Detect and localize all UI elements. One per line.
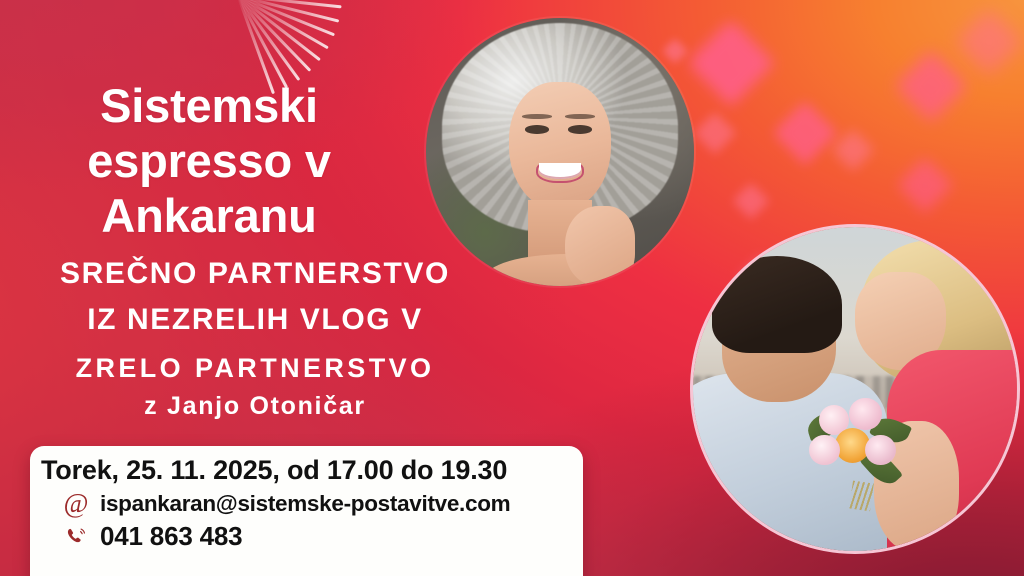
heart-icon [738,188,764,214]
heart-icon [838,135,868,165]
title-line-1: Sistemski [0,78,418,133]
phone-icon [52,526,100,548]
email-address[interactable]: ispankaran@sistemske-postavitve.com [100,491,510,517]
title-line-2-thin: v [305,134,331,187]
phone-number[interactable]: 041 863 483 [100,521,242,552]
couple-with-bouquet-photo [690,224,1020,554]
event-date-time: Torek, 25. 11. 2025, od 17.00 do 19.30 [30,455,583,486]
title-line-3: Ankaranu [0,188,418,243]
email-row[interactable]: @ ispankaran@sistemske-postavitve.com [30,490,583,517]
heart-icon [965,18,1013,66]
phone-row[interactable]: 041 863 483 [30,521,583,552]
subtitle-line-2: IZ NEZRELIH VLOG V [0,302,510,337]
woman-portrait-photo [426,18,694,286]
heart-icon [700,118,730,148]
heart-icon [700,32,762,94]
subtitle-line-3: ZRELO PARTNERSTVO [0,352,510,384]
title-line-2: espresso v [0,133,418,188]
heart-icon [905,60,957,112]
presenter-name: z Janjo Otoničar [0,392,510,421]
poster-title: Sistemski espresso v Ankaranu [0,78,418,243]
event-poster: Sistemski espresso v Ankaranu SREČNO PAR… [0,0,1024,576]
subtitle-line-1: SREČNO PARTNERSTVO [0,256,510,291]
title-line-2-strong: espresso [87,134,292,187]
heart-icon [782,110,828,156]
event-info-card: Torek, 25. 11. 2025, od 17.00 do 19.30 @… [30,446,583,576]
heart-icon [905,165,945,205]
at-icon: @ [52,490,100,517]
